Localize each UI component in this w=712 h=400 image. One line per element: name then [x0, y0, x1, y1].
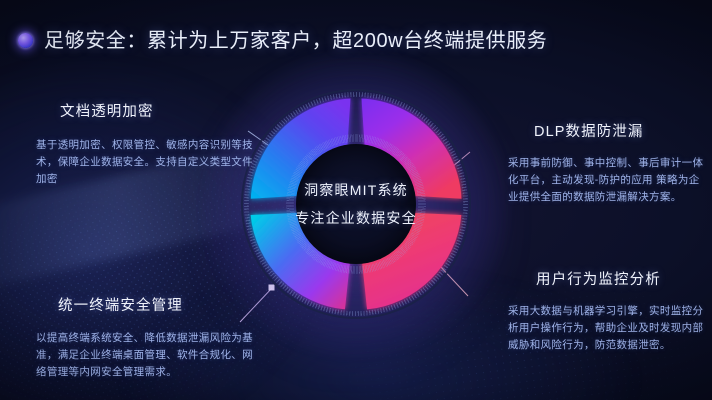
- infographic-slide: 足够安全：累计为上万家客户，超200w台终端提供服务: [0, 0, 712, 400]
- background-vignette: [0, 0, 712, 400]
